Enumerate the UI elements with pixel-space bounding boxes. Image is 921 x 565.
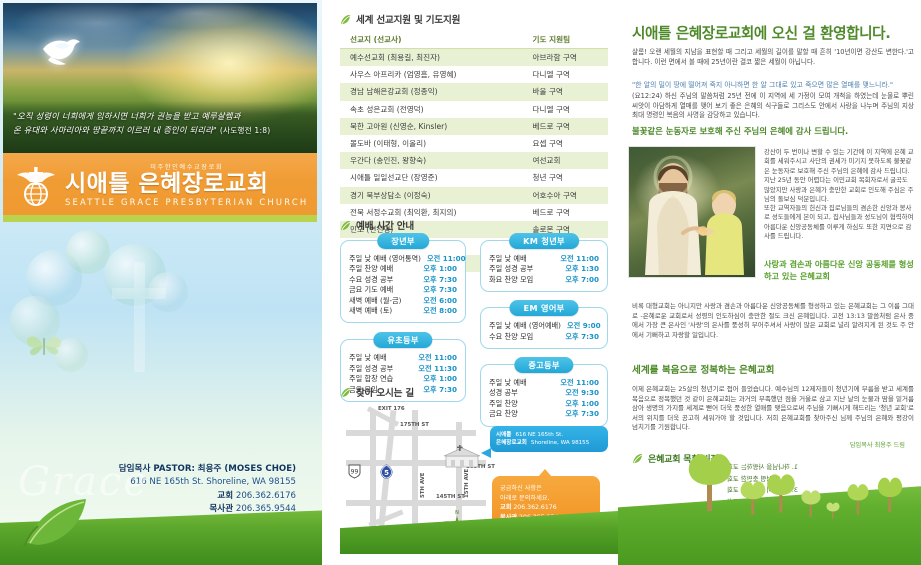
service-row: 수요 성경 공부오후 7:30 xyxy=(349,275,457,285)
scripture-line-1: "오직 성령이 너희에게 임하시면 너희가 권능을 받고 예루살렘과 xyxy=(13,109,307,123)
service-name: 수요 찬양 모임 xyxy=(489,332,533,342)
callout-row: 시애틀 616 NE 165th St. xyxy=(496,431,602,439)
mission-table-row: 예수선교회 (최용길, 최진자)아브라함 구역 xyxy=(340,49,608,67)
service-row: 수요 찬양 모임오후 7:30 xyxy=(489,332,599,342)
service-row: 주일 낮 예배 (영어통역)오전 11:00 xyxy=(349,254,457,264)
info-line-1: 궁금하신 사항은 xyxy=(500,484,592,494)
road-label: 5TH AVE xyxy=(420,473,426,498)
mission-prayerteam-cell: 다니엘 구역 xyxy=(515,101,608,118)
middle-panel: 세계 선교지원 및 기도지원 선교지 (선교사) 기도 지원팀 예수선교회 (최… xyxy=(322,0,618,565)
butterfly-icon xyxy=(24,330,64,362)
road-aurora xyxy=(370,410,376,530)
callout-addr-1: 616 NE 165th St. xyxy=(515,431,563,439)
worship-column-left: 장년부 주일 낮 예배 (영어통역)오전 11:00주일 찬양 예배오후 1:0… xyxy=(340,240,466,402)
church-emblem-icon xyxy=(13,161,59,207)
service-name: 새벽 예배 (토) xyxy=(349,306,392,316)
service-time: 오전 11:00 xyxy=(412,353,457,363)
service-time: 오후 7:00 xyxy=(559,275,599,285)
scripture-line-2-text: 온 유대와 사마리아와 땅끝까지 이르러 내 증인이 되리라" xyxy=(13,125,217,135)
svg-text:99: 99 xyxy=(351,469,359,476)
mission-field-cell: 우간다 (송인진, 왕향숙) xyxy=(340,152,515,169)
pastor-line: 담임목사 PASTOR: 최용주 (MOSES CHOE) xyxy=(0,463,296,476)
welcome-paragraph-4: 또한 교역자들의 헌신과 집로님들의 겸손한 신앙과 봉사로 성도들에게 본이 … xyxy=(764,204,914,242)
scripture-quote: "오직 성령이 너희에게 임하시면 너희가 권능을 받고 예루살렘과 온 유대와… xyxy=(3,101,317,153)
mission-col-field: 선교지 (선교사) xyxy=(340,31,515,49)
church-logo-band: 미주한인예수교장로회 시애틀 은혜장로교회 SEATTLE GRACE PRES… xyxy=(3,153,317,215)
scripture-reference: (사도행전 1:8) xyxy=(220,126,271,135)
mission-table-row: 시애틀 일일선교단 (장영준)청년 구역 xyxy=(340,169,608,186)
info-church-value: 206.362.6176 xyxy=(513,504,556,511)
mission-prayerteam-cell: 아브라함 구역 xyxy=(515,49,608,67)
logo-english-name: SEATTLE GRACE PRESBYTERIAN CHURCH xyxy=(65,197,308,207)
mission-prayerteam-cell: 다니엘 구역 xyxy=(515,66,608,83)
service-name: 주일 낮 예배 xyxy=(349,353,387,363)
mission-field-cell: 북한 고아원 (신영순, Kinsler) xyxy=(340,118,515,135)
service-row: 주일 낮 예배 (영어예배)오전 9:00 xyxy=(489,321,599,331)
logo-text-group: 미주한인예수교장로회 시애틀 은혜장로교회 SEATTLE GRACE PRES… xyxy=(65,162,308,207)
service-time: 오후 7:30 xyxy=(417,275,457,285)
pastor-name: 최용주 (MOSES CHOE) xyxy=(198,464,296,474)
service-row: 새벽 예배 (월-금)오전 6:00 xyxy=(349,296,457,306)
mission-prayerteam-cell: 바울 구역 xyxy=(515,83,608,100)
leaf-icon xyxy=(632,453,643,464)
heart-tree-icon xyxy=(824,499,842,519)
service-row: 주일 성경 공부오전 11:30 xyxy=(349,364,457,374)
mission-field-cell: 속초 성은교회 (전영덕) xyxy=(340,101,515,118)
mission-section-title: 세계 선교지원 및 기도지원 xyxy=(356,12,460,26)
mission-table-row: 경남 남해은강교회 (정종익)바울 구역 xyxy=(340,83,608,100)
mission-prayerteam-cell: 베드로 구역 xyxy=(515,118,608,135)
cross-watermark-icon xyxy=(112,262,166,372)
pastor-label: 담임목사 PASTOR: xyxy=(119,464,195,474)
callout-addr-2: Shoreline, WA 98155 xyxy=(531,439,589,447)
road-label: 145TH ST xyxy=(436,494,465,500)
green-heading-1: 사랑과 겸손과 아름다운 신앙 공동체를 형성하고 있는 은혜교회 xyxy=(764,258,919,282)
welcome-title: 시애틀 은혜장로교회에 오신 걸 환영합니다. xyxy=(632,22,914,43)
church-building-icon xyxy=(438,444,484,468)
mission-field-cell: 시애틀 일일선교단 (장영준) xyxy=(340,169,515,186)
service-name: 주일 합창 연습 xyxy=(349,374,393,384)
left-lower-decor: 담임목사 PASTOR: 최용주 (MOSES CHOE) 616 NE 165… xyxy=(0,222,322,565)
mission-field-cell: 예수선교회 (최용길, 최진자) xyxy=(340,49,515,67)
church-phone-value: 206.362.6176 xyxy=(236,491,296,501)
directions-section-header: 찾아 오시는 길 xyxy=(340,385,612,399)
road-label: 15TH AVE xyxy=(464,469,470,498)
svg-text:5: 5 xyxy=(384,469,389,477)
service-name: 주일 낮 예배 xyxy=(489,254,527,264)
church-phone-label: 교회 xyxy=(217,491,233,501)
worship-card-title: 유초등부 xyxy=(373,332,432,348)
mission-prayerteam-cell: 어호수아 구역 xyxy=(515,187,608,204)
worship-card-title: EM 영어부 xyxy=(510,300,579,316)
service-row: 화요 찬양 모임오후 7:00 xyxy=(489,275,599,285)
service-name: 주일 낮 예배 (영어예배) xyxy=(489,321,561,331)
road-5th-ave xyxy=(412,410,418,530)
service-time: 오전 11:30 xyxy=(412,364,457,374)
service-time: 오후 1:30 xyxy=(559,264,599,274)
service-time: 오전 9:00 xyxy=(561,321,601,331)
callout-church-name-2: 은혜장로교회 xyxy=(496,439,527,447)
worship-card-title: 중고등부 xyxy=(514,357,573,373)
worship-card: EM 영어부 주일 낮 예배 (영어예배)오전 9:00수요 찬양 모임오후 7… xyxy=(480,307,608,349)
address-line: 616 NE 165th St. Shoreline, WA 98155 xyxy=(0,476,296,489)
service-row: 금요 기도 예배오후 7:30 xyxy=(349,285,457,295)
welcome-paragraph-5: 비록 대형교회는 아니지만 사랑과 겸손과 아름다운 신앙공동체를 형성하고 있… xyxy=(632,302,914,340)
service-name: 화요 찬양 모임 xyxy=(489,275,533,285)
heart-tree-icon xyxy=(844,479,872,515)
info-church-label: 교회 xyxy=(500,504,511,511)
mission-field-cell: 경남 남해은강교회 (정종익) xyxy=(340,83,515,100)
right-panel: 시애틀 은혜장로교회에 오신 걸 환영합니다. 샬롬! 오랜 세월의 지남을 표… xyxy=(618,0,921,565)
mission-field-cell: 몰도바 (이태형, 이올리) xyxy=(340,135,515,152)
decor-bubble xyxy=(66,230,110,274)
highway-shield-i5-icon: 5 xyxy=(380,464,393,479)
green-heading-2: 세계를 복음으로 정복하는 은혜교회 xyxy=(632,362,774,376)
thanks-heading: 불꽃같은 눈동자로 보호해 주신 주님의 은혜에 감사 드립니다. xyxy=(632,125,914,137)
mission-table-row: 북한 고아원 (신영순, Kinsler)베드로 구역 xyxy=(340,118,608,135)
leaf-icon xyxy=(340,387,351,398)
service-time: 오전 11:00 xyxy=(421,254,466,264)
logo-underbar xyxy=(3,215,317,222)
mission-field-cell: 경기 북부상담소 (이정숙) xyxy=(340,187,515,204)
mission-prayerteam-cell: 청년 구역 xyxy=(515,169,608,186)
service-time: 오전 8:00 xyxy=(417,306,457,316)
worship-card-body: 주일 낮 예배 (영어예배)오전 9:00수요 찬양 모임오후 7:30 xyxy=(489,321,599,342)
mission-table-row: 몰도바 (이태형, 이올리)요셉 구역 xyxy=(340,135,608,152)
leaf-icon xyxy=(22,495,92,547)
service-row: 주일 낮 예배오전 11:00 xyxy=(349,353,457,363)
service-row: 주일 찬양 예배오후 1:00 xyxy=(349,264,457,274)
welcome-paragraph-3: 강산이 두 번이나 변할 수 있는 기간에 이 지역에 은혜 교회를 세워주시고… xyxy=(764,148,914,204)
callout-row: 은혜장로교회 Shoreline, WA 98155 xyxy=(496,439,602,447)
directions-section-title: 찾아 오시는 길 xyxy=(356,385,414,399)
mission-col-prayerteam: 기도 지원팀 xyxy=(515,31,608,49)
leaf-icon xyxy=(340,220,351,231)
mission-table-row: 우간다 (송인진, 왕향숙)여선교회 xyxy=(340,152,608,169)
service-time: 오후 1:00 xyxy=(417,264,457,274)
service-name: 주일 찬양 예배 xyxy=(349,264,393,274)
welcome-paragraph-1: 샬롬! 오랜 세월의 지남을 표현할 때 그리고 세월의 길이를 말할 때 흔히… xyxy=(632,48,914,67)
info-church-phone: 교회 206.362.6176 xyxy=(500,503,592,513)
highway-shield-99-icon: 99 xyxy=(348,464,361,479)
service-row: 주일 합창 연습오후 1:00 xyxy=(349,374,457,384)
heart-tree-icon xyxy=(874,471,906,513)
service-name: 주일 성경 공부 xyxy=(349,364,393,374)
service-row: 주일 낮 예배오전 11:00 xyxy=(489,254,599,264)
leaf-icon xyxy=(340,14,351,25)
brochure-page: "오직 성령이 너희에게 임하시면 너희가 권능을 받고 예루살렘과 온 유대와… xyxy=(0,0,921,565)
scripture-line-2: 온 유대와 사마리아와 땅끝까지 이르러 내 증인이 되리라" (사도행전 1:… xyxy=(13,123,307,138)
service-name: 금요 기도 예배 xyxy=(349,285,393,295)
service-row: 새벽 예배 (토)오전 8:00 xyxy=(349,306,457,316)
worship-section: 예배 시간 안내 장년부 주일 낮 예배 (영어통역)오전 11:00주일 찬양… xyxy=(340,218,608,390)
info-line-2: 아래로 문의하세요. xyxy=(500,494,592,504)
worship-card-title: 장년부 xyxy=(377,233,429,249)
bible-quote-text: "한 알의 밀이 땅에 떨어져 죽지 아니하면 한 알 그대로 있고 죽으면 많… xyxy=(632,81,893,89)
worship-card-title: KM 청년부 xyxy=(509,233,579,249)
logo-superscript: 미주한인예수교장로회 xyxy=(65,162,308,171)
worship-section-title: 예배 시간 안내 xyxy=(356,218,414,232)
welcome-paragraph-6: 이제 은혜교회는 25살의 청년기로 접어 들었습니다. 예수님의 12제자들이… xyxy=(632,385,914,433)
road-label: 175TH ST xyxy=(400,422,429,428)
church-address-callout: 시애틀 616 NE 165th St. 은혜장로교회 Shoreline, W… xyxy=(490,426,608,452)
dove-icon xyxy=(39,33,83,67)
service-name: 수요 성경 공부 xyxy=(349,275,393,285)
welcome-paragraph-2: (요12:24) 하신 주님의 말씀처럼 25년 전에 이 지역에 세 가정이 … xyxy=(632,92,914,121)
mission-prayerteam-cell: 요셉 구역 xyxy=(515,135,608,152)
service-name: 새벽 예배 (월-금) xyxy=(349,296,401,306)
bible-quote: "한 알의 밀이 땅에 떨어져 죽지 아니하면 한 알 그대로 있고 죽으면 많… xyxy=(632,72,914,91)
service-name: 주일 낮 예배 (영어통역) xyxy=(349,254,421,264)
service-row: 주일 성경 공부오후 1:30 xyxy=(489,264,599,274)
mission-table-header-row: 선교지 (선교사) 기도 지원팀 xyxy=(340,31,608,49)
heart-tree-icon xyxy=(680,443,740,513)
pastor-signature: 담임목사 최용주 드림 xyxy=(850,440,905,449)
worship-section-header: 예배 시간 안내 xyxy=(340,218,608,232)
callout-church-name-1: 시애틀 xyxy=(496,431,511,439)
logo-korean-name: 시애틀 은혜장로교회 xyxy=(65,171,308,197)
service-name: 주일 성경 공부 xyxy=(489,264,533,274)
mission-field-cell: 사우스 아프리카 (엄영흠, 유영혜) xyxy=(340,66,515,83)
service-time: 오후 7:30 xyxy=(417,285,457,295)
mission-section-header: 세계 선교지원 및 기도지원 xyxy=(340,12,608,26)
mission-table-row: 사우스 아프리카 (엄영흠, 유영혜)다니엘 구역 xyxy=(340,66,608,83)
road-label: EXIT 176 xyxy=(378,406,405,412)
worship-card-body: 주일 낮 예배오전 11:00주일 성경 공부오후 1:30화요 찬양 모임오후… xyxy=(489,254,599,285)
jesus-with-child-photo xyxy=(628,146,756,278)
mission-table-row: 속초 성은교회 (전영덕)다니엘 구역 xyxy=(340,101,608,118)
service-time: 오전 11:00 xyxy=(554,254,599,264)
svg-text:N: N xyxy=(455,510,459,516)
left-panel: "오직 성령이 너희에게 임하시면 너희가 권능을 받고 예루살렘과 온 유대와… xyxy=(0,0,322,565)
parsonage-label: 목사관 xyxy=(209,504,233,514)
worship-card: 장년부 주일 낮 예배 (영어통역)오전 11:00주일 찬양 예배오후 1:0… xyxy=(340,240,466,323)
directions-section: 찾아 오시는 길 EXIT 176 EXIT 175 175TH ST 165T… xyxy=(340,385,612,554)
service-time: 오후 1:00 xyxy=(417,374,457,384)
service-time: 오전 6:00 xyxy=(417,296,457,306)
worship-card: KM 청년부 주일 낮 예배오전 11:00주일 성경 공부오후 1:30화요 … xyxy=(480,240,608,292)
heart-tree-icon xyxy=(798,485,824,517)
mission-table-row: 경기 북부상담소 (이정숙)어호수아 구역 xyxy=(340,187,608,204)
worship-card-body: 주일 낮 예배 (영어통역)오전 11:00주일 찬양 예배오후 1:00수요 … xyxy=(349,254,457,316)
mission-prayerteam-cell: 여선교회 xyxy=(515,152,608,169)
service-time: 오후 7:30 xyxy=(559,332,599,342)
heart-tree-icon xyxy=(762,467,800,513)
